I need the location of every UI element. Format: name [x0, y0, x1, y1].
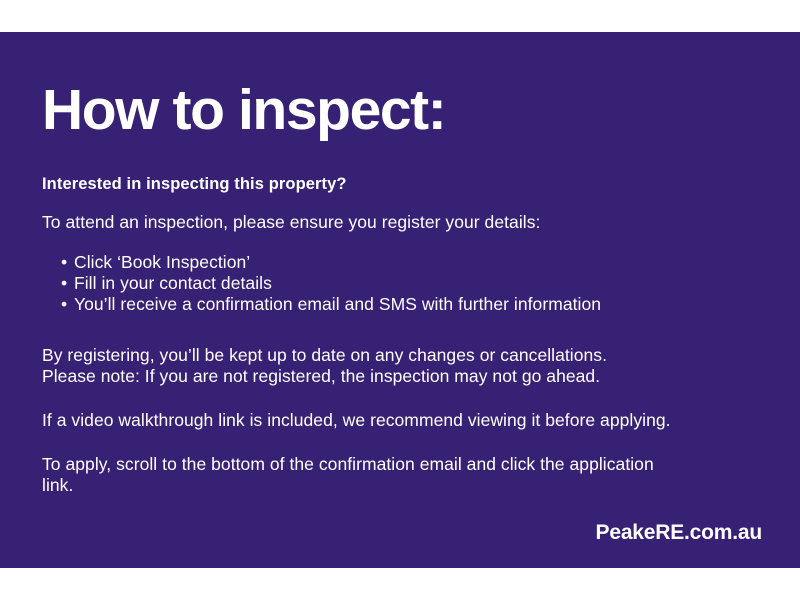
apply-paragraph: To apply, scroll to the bottom of the co…	[42, 431, 682, 496]
brand-website-label: PeakeRE.com.au	[596, 521, 762, 545]
registering-line-1: By registering, you’ll be kept up to dat…	[42, 345, 607, 365]
page-title: How to inspect:	[42, 32, 762, 139]
info-slide-panel: How to inspect: Interested in inspecting…	[0, 32, 800, 568]
registering-paragraph: By registering, you’ll be kept up to dat…	[42, 314, 762, 387]
lead-paragraph: To attend an inspection, please ensure y…	[42, 194, 762, 233]
list-item: Click ‘Book Inspection’	[42, 252, 762, 273]
video-walkthrough-paragraph: If a video walkthrough link is included,…	[42, 387, 762, 431]
subheading: Interested in inspecting this property?	[42, 139, 762, 194]
list-item: You’ll receive a confirmation email and …	[42, 294, 762, 315]
list-item: Fill in your contact details	[42, 273, 762, 294]
registering-line-2: Please note: If you are not registered, …	[42, 366, 600, 386]
instruction-list: Click ‘Book Inspection’ Fill in your con…	[42, 233, 762, 314]
slide-content: How to inspect: Interested in inspecting…	[42, 32, 762, 496]
